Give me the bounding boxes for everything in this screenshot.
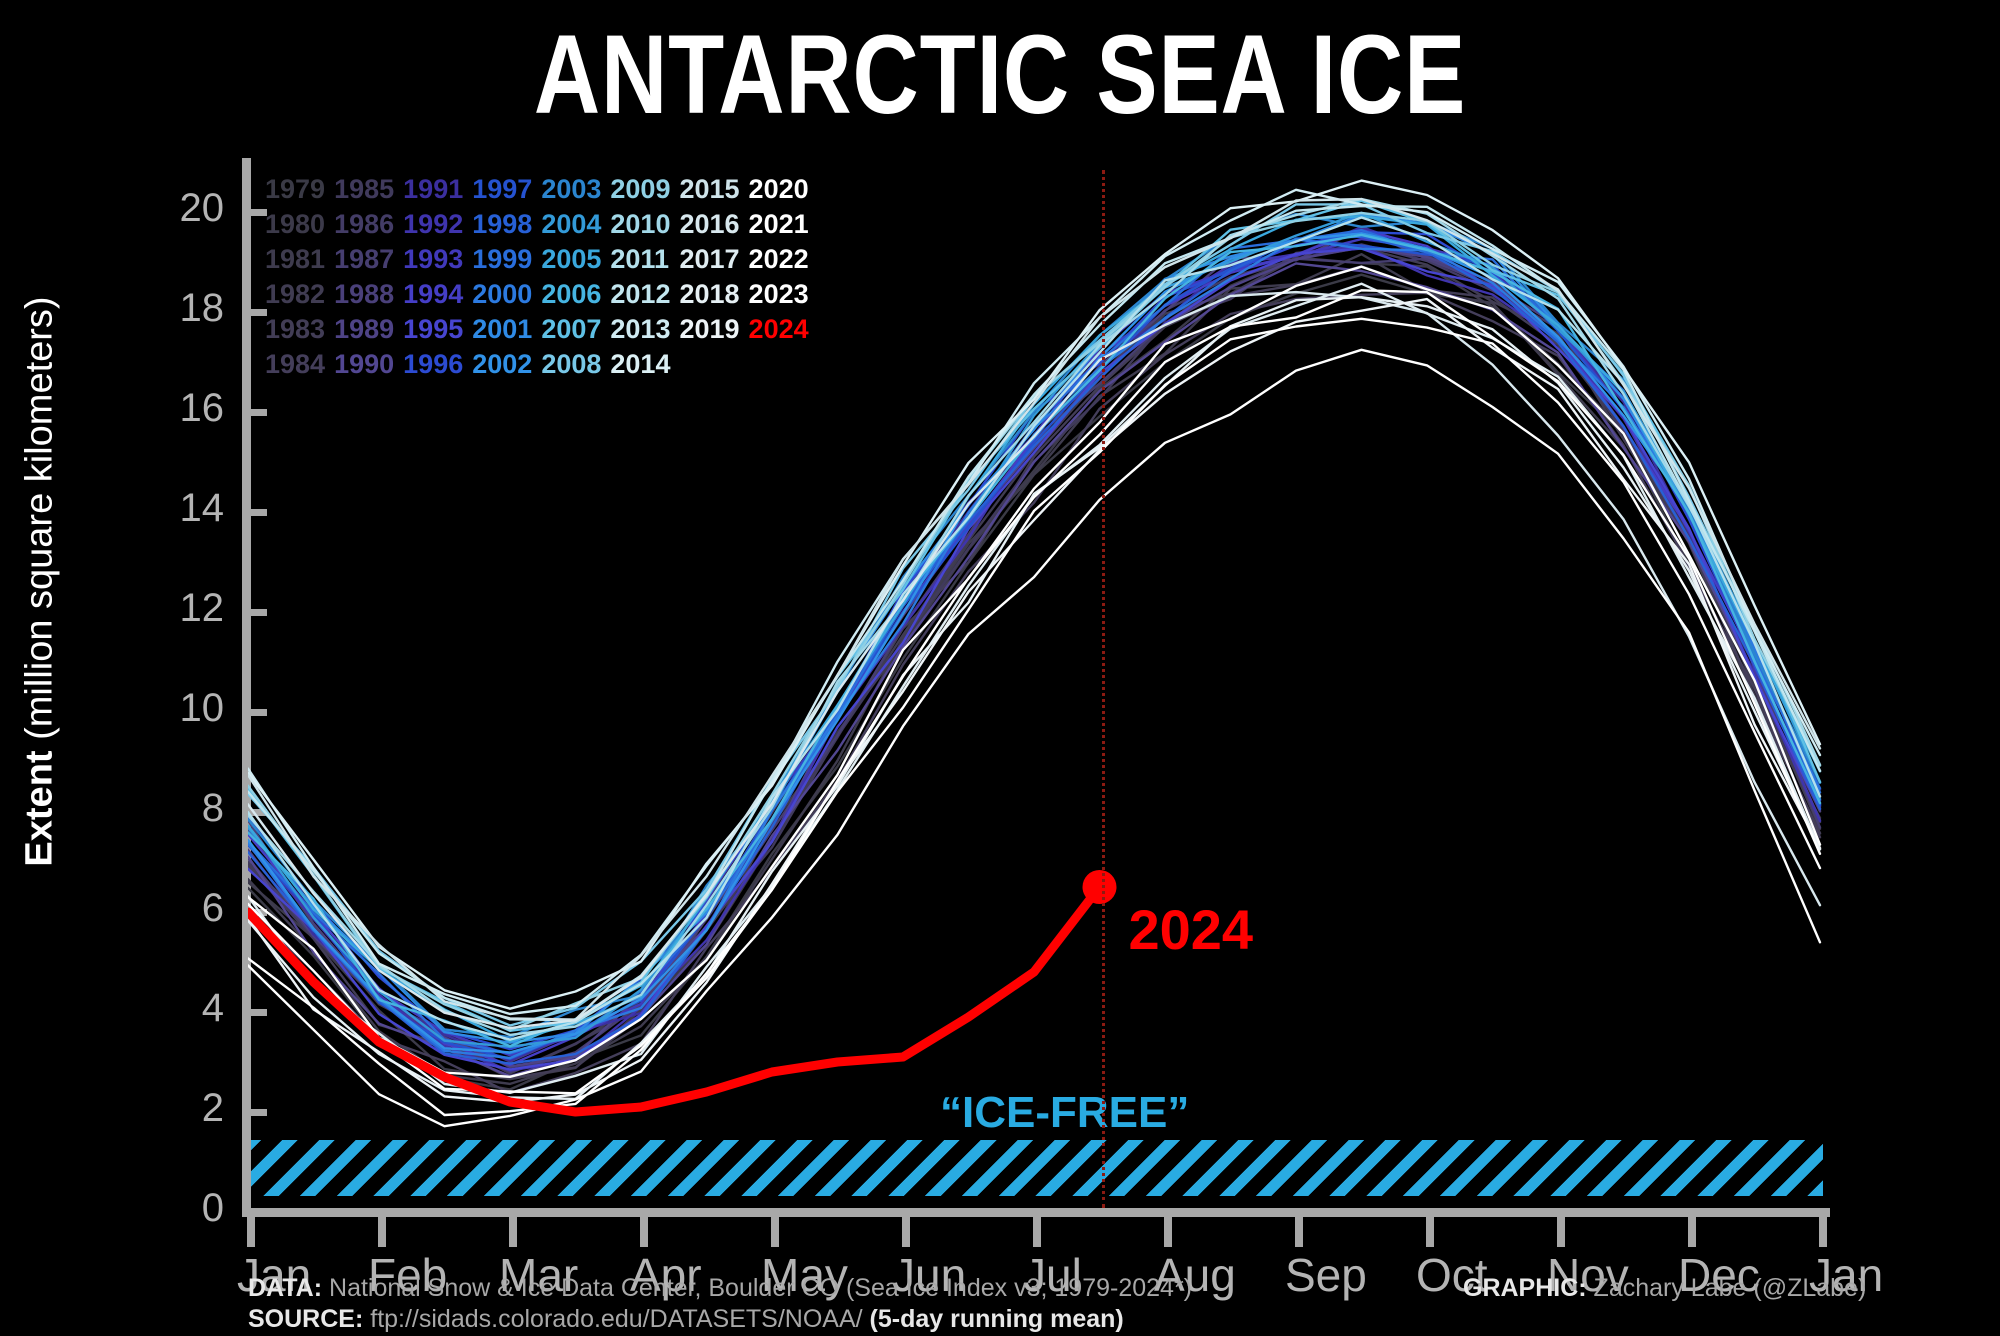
ice-free-label: “ICE-FREE” [940,1088,1189,1138]
legend-year[interactable]: 2006 [541,277,610,312]
ice-free-band [251,1140,1823,1196]
page-title: ANTARCTIC SEA ICE [180,16,1820,134]
y-tick-label-text: 16 [104,386,224,431]
x-tick [771,1217,779,1247]
legend-year[interactable]: 1985 [334,172,403,207]
highlight-year-annotation: 2024 [1129,897,1254,962]
legend-year[interactable]: 2021 [749,207,818,242]
y-tick-label: 0 [104,1186,224,1226]
legend-year[interactable]: 2003 [541,172,610,207]
credits-block: DATA: National Snow & Ice Data Center, B… [248,1272,1948,1334]
legend-year[interactable]: 1994 [403,277,472,312]
x-tick [378,1217,386,1247]
legend-year[interactable]: 1982 [265,277,334,312]
legend-year[interactable]: 2007 [541,312,610,347]
credits-data-label: DATA: [248,1274,322,1302]
legend-year[interactable]: 1996 [403,347,472,382]
legend-year[interactable]: 1987 [334,242,403,277]
legend-year[interactable]: 2016 [679,207,748,242]
y-tick-label: 10 [104,686,224,726]
x-tick [509,1217,517,1247]
legend-year[interactable]: 2000 [472,277,541,312]
legend-year[interactable]: 2017 [679,242,748,277]
legend-year[interactable]: 1999 [472,242,541,277]
y-tick-label-text: 2 [104,1086,224,1131]
y-axis-title-rest: (million square kilometers) [19,296,61,750]
y-tick [251,1209,267,1216]
legend-year[interactable]: 1988 [334,277,403,312]
x-tick [1819,1217,1827,1247]
y-axis-title-bold: Extent [19,750,61,866]
y-tick-label: 18 [104,286,224,326]
y-tick-label: 20 [104,186,224,226]
legend-year[interactable]: 2019 [679,312,748,347]
legend-year[interactable]: 1989 [334,312,403,347]
legend-year[interactable]: 2015 [679,172,748,207]
credits-source-row: SOURCE: ftp://sidads.colorado.edu/DATASE… [248,1303,1948,1334]
legend-year[interactable]: 2013 [610,312,679,347]
y-tick-label: 12 [104,586,224,626]
legend-year[interactable]: 1998 [472,207,541,242]
y-tick-label: 2 [104,1086,224,1126]
legend-row: 19801986199219982004201020162021 [265,207,818,242]
legend-year[interactable]: 2010 [610,207,679,242]
y-tick-label-text: 8 [104,786,224,831]
y-tick-label-text: 6 [104,886,224,931]
series-line [248,267,1820,1077]
chart-canvas: ANTARCTIC SEA ICE 02468101214161820 JanF… [0,0,2000,1333]
y-tick-label: 16 [104,386,224,426]
y-axis-title: Extent (million square kilometers) [19,232,62,932]
x-tick [1557,1217,1565,1247]
legend-year[interactable]: 2020 [749,172,818,207]
legend-year[interactable]: 1992 [403,207,472,242]
credits-data-text: National Snow & Ice Data Center, Boulder… [322,1274,1192,1302]
legend-year[interactable]: 1993 [403,242,472,277]
legend-year[interactable]: 1995 [403,312,472,347]
legend-year[interactable]: 1979 [265,172,334,207]
legend-year[interactable]: 2002 [472,347,541,382]
credits-graphic-label: GRAPHIC: [1463,1274,1587,1302]
legend-year[interactable]: 1990 [334,347,403,382]
legend-year[interactable]: 2008 [541,347,610,382]
credits-data-row: DATA: National Snow & Ice Data Center, B… [248,1272,1948,1303]
x-tick [1164,1217,1172,1247]
legend-year[interactable]: 1983 [265,312,334,347]
y-tick-label-text: 4 [104,986,224,1031]
legend-year[interactable]: 2009 [610,172,679,207]
legend-year[interactable]: 2005 [541,242,610,277]
y-tick-label: 4 [104,986,224,1026]
y-tick-label: 8 [104,786,224,826]
y-tick-label: 6 [104,886,224,926]
series-line [248,299,1820,1102]
y-tick-label-text: 10 [104,686,224,731]
y-tick-label-text: 18 [104,286,224,331]
x-tick [1688,1217,1696,1247]
legend-row: 198419901996200220082014 [265,347,818,382]
y-tick-label-text: 20 [104,186,224,231]
legend-year[interactable]: 2012 [610,277,679,312]
credits-source-label: SOURCE: [248,1305,363,1333]
legend-year[interactable]: 1981 [265,242,334,277]
legend-year[interactable]: 2018 [679,277,748,312]
x-tick [247,1217,255,1247]
legend-year[interactable]: 2011 [610,242,679,277]
legend-row: 19831989199520012007201320192024 [265,312,818,347]
legend-row: 19821988199420002006201220182023 [265,277,818,312]
legend-year[interactable]: 2023 [749,277,818,312]
x-tick [640,1217,648,1247]
legend-year[interactable]: 2001 [472,312,541,347]
legend-year[interactable]: 2024 [749,312,818,347]
legend-year[interactable]: 1991 [403,172,472,207]
legend-year[interactable]: 2004 [541,207,610,242]
current-date-marker-line [1102,170,1105,1208]
y-tick-label: 14 [104,486,224,526]
legend-year[interactable]: 1986 [334,207,403,242]
legend-row: 19791985199119972003200920152020 [265,172,818,207]
y-tick-label-text: 12 [104,586,224,631]
legend-row: 19811987199319992005201120172022 [265,242,818,277]
legend-year[interactable]: 2014 [610,347,679,382]
legend-table: 1979198519911997200320092015202019801986… [265,172,818,383]
credits-graphic: GRAPHIC: Zachary Labe (@ZLabe) [1463,1272,1866,1305]
legend-year[interactable]: 1980 [265,207,334,242]
x-tick [1033,1217,1041,1247]
legend-year[interactable]: 1984 [265,347,334,382]
x-tick [902,1217,910,1247]
x-axis-line [242,1208,1830,1217]
x-tick [1426,1217,1434,1247]
year-legend: 1979198519911997200320092015202019801986… [265,172,818,383]
credits-source-note: (5-day running mean) [870,1305,1124,1333]
y-tick-label-text: 0 [104,1186,224,1231]
highlight-end-marker [1083,870,1117,904]
credits-graphic-text: Zachary Labe (@ZLabe) [1587,1274,1867,1302]
series-line [248,266,1820,1078]
legend-year[interactable]: 1997 [472,172,541,207]
y-tick-label-text: 14 [104,486,224,531]
x-tick [1295,1217,1303,1247]
credits-source-text: ftp://sidads.colorado.edu/DATASETS/NOAA/ [363,1305,869,1333]
legend-year[interactable]: 2022 [749,242,818,277]
